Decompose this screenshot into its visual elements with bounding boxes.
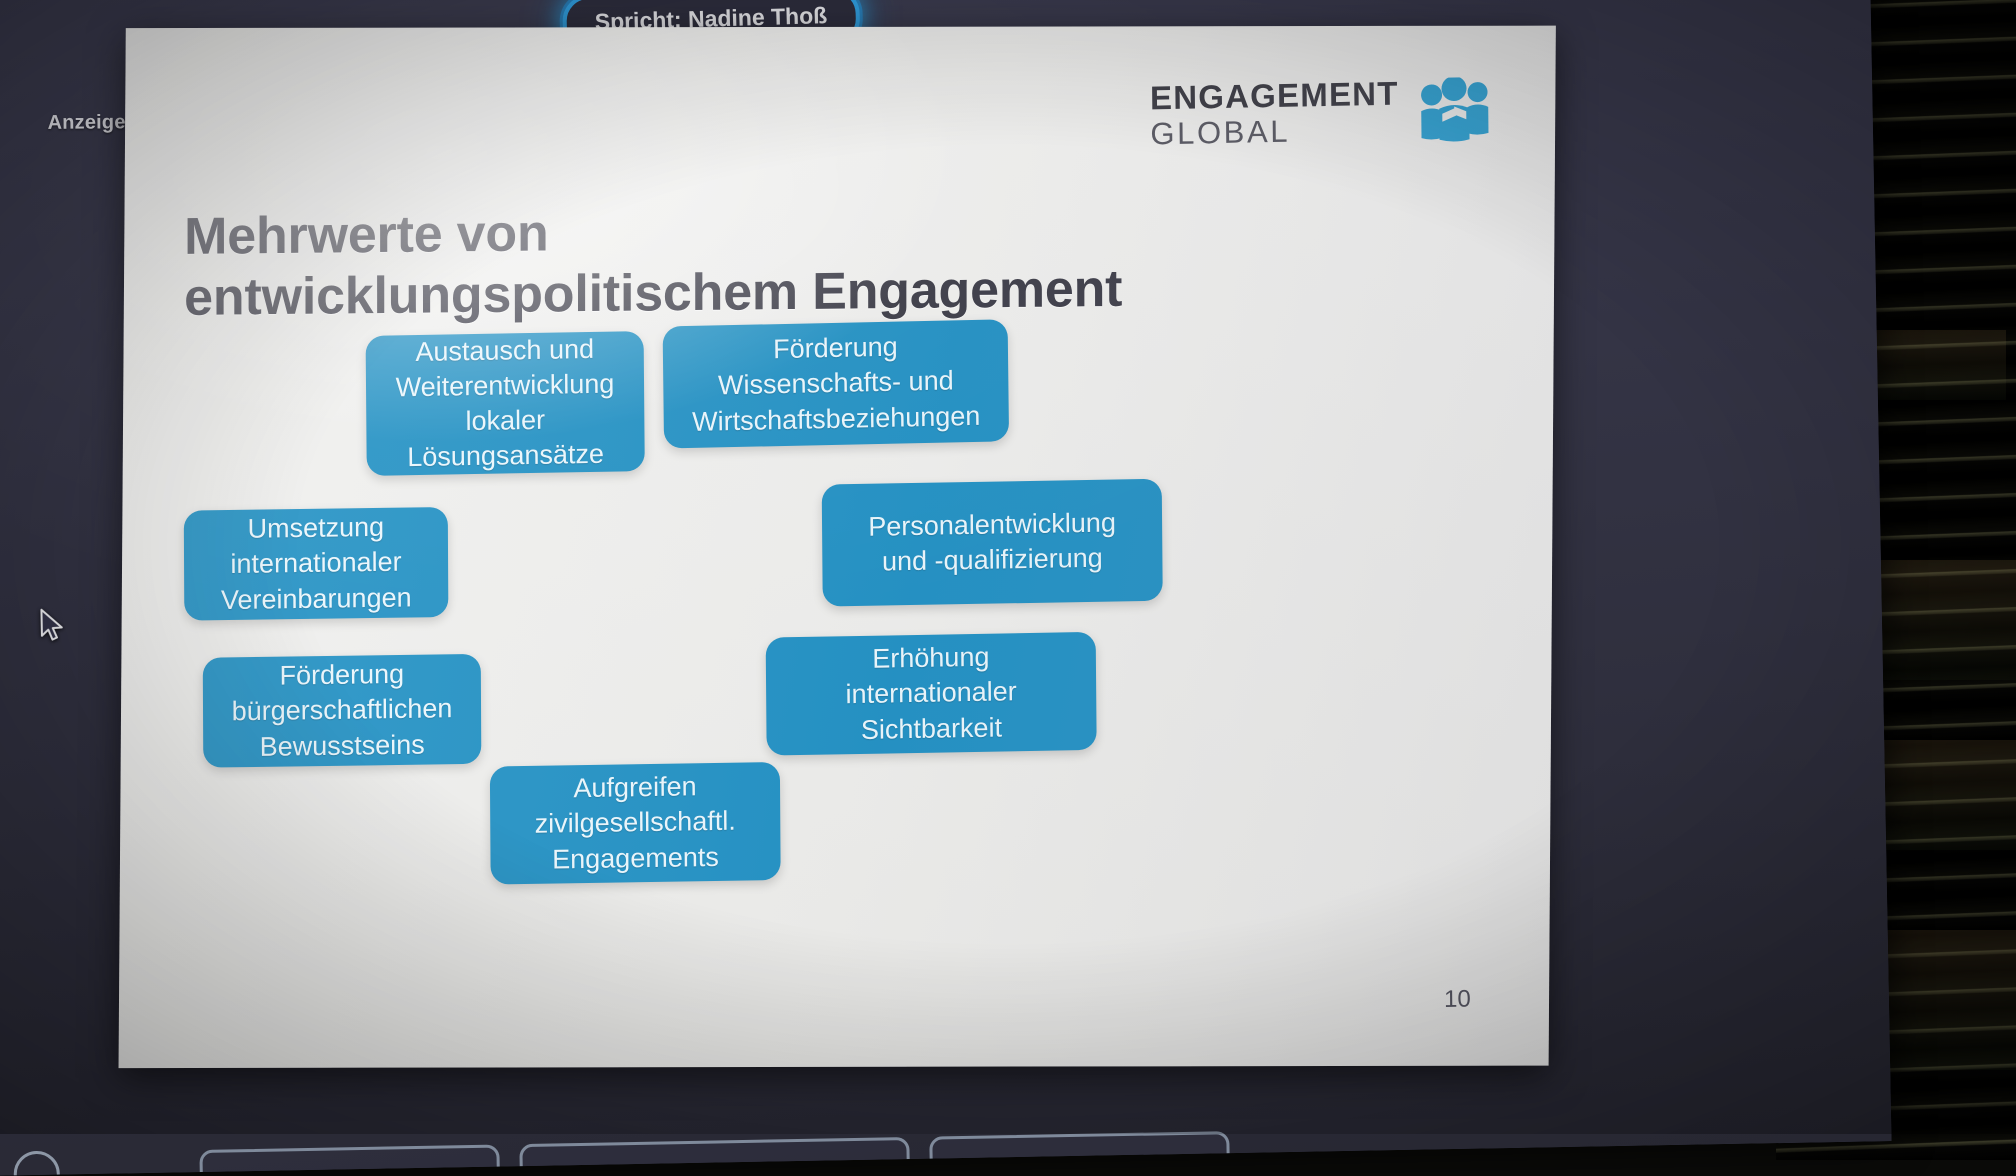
presentation-slide: ENGAGEMENT GLOBAL Mehrwerte von entwickl… xyxy=(119,26,1556,1068)
logo-line-2: GLOBAL xyxy=(1151,113,1400,151)
value-box: Personalentwicklung und -qualifizierung xyxy=(822,479,1163,607)
value-box: Umsetzung internationaler Vereinbarungen xyxy=(184,507,449,621)
logo-wordmark: ENGAGEMENT GLOBAL xyxy=(1150,77,1399,151)
logo-line-1: ENGAGEMENT xyxy=(1150,77,1399,115)
value-box: Förderung bürgerschaftlichen Bewusstsein… xyxy=(203,654,482,768)
mouse-cursor-icon xyxy=(39,608,66,642)
slide-page-number: 10 xyxy=(1444,986,1471,1015)
value-box: Förderung Wissenschafts- und Wirtschafts… xyxy=(663,319,1009,448)
display-screen: Anzeigen des freigegebenen Inhalts von N… xyxy=(0,0,1891,1176)
window-pane-reflection xyxy=(1856,330,2006,400)
value-box: Erhöhung internationaler Sichtbarkeit xyxy=(766,632,1097,756)
engagement-global-logo: ENGAGEMENT GLOBAL xyxy=(1150,75,1493,151)
toolbar-button[interactable] xyxy=(519,1137,910,1176)
page-title: Mehrwerte von entwicklungspolitischem En… xyxy=(184,197,1164,328)
value-box: Austausch und Weiterentwicklung lokaler … xyxy=(366,331,645,476)
toolbar-button[interactable] xyxy=(199,1144,500,1175)
value-box: Aufgreifen zivilgesellschaftl. Engagemen… xyxy=(490,762,781,885)
toolbar-button[interactable] xyxy=(929,1131,1230,1176)
three-people-icon xyxy=(1415,77,1494,144)
